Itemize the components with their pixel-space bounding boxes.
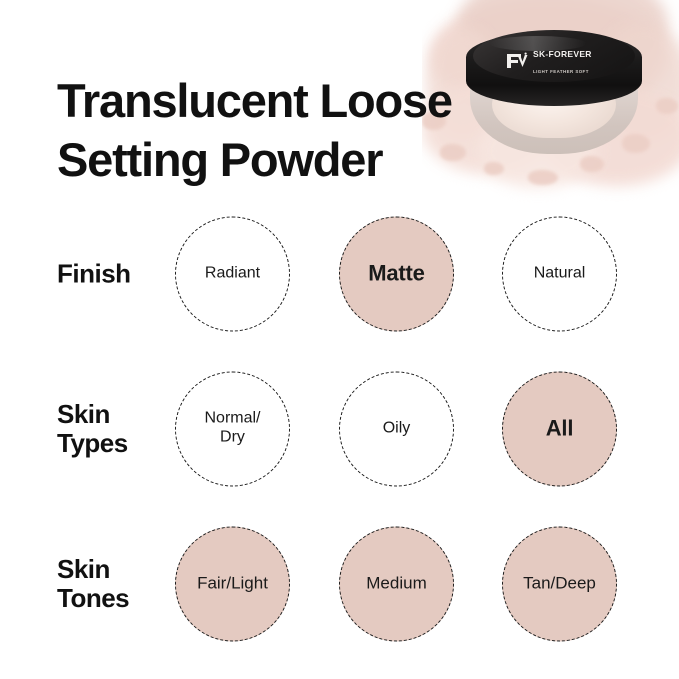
option-tan-deep[interactable]: Tan/Deep — [502, 526, 617, 641]
option-label: Radiant — [200, 264, 265, 283]
option-normal-dry[interactable]: Normal/ Dry — [175, 371, 290, 486]
option-all[interactable]: All — [502, 371, 617, 486]
option-label: Oily — [378, 419, 416, 438]
option-matte[interactable]: Matte — [339, 216, 454, 331]
option-label: Fair/Light — [192, 574, 273, 594]
fv-monogram-icon — [506, 52, 528, 70]
page-title-line-2: Setting Powder — [57, 131, 467, 189]
matrix-row-skin-types: Skin Types Normal/ Dry Oily All — [0, 351, 679, 506]
row-label-skin-tones: Skin Tones — [57, 554, 177, 612]
row-label-skin-types: Skin Types — [57, 399, 177, 457]
brand-name: SK-FOREVER — [533, 49, 592, 59]
attribute-matrix: Finish Radiant Matte Natural Skin Types … — [0, 196, 679, 661]
matrix-row-skin-tones: Skin Tones Fair/Light Medium Tan/Deep — [0, 506, 679, 661]
option-radiant[interactable]: Radiant — [175, 216, 290, 331]
option-medium[interactable]: Medium — [339, 526, 454, 641]
page-title-line-1: Translucent Loose — [57, 72, 467, 130]
loose-powder-jar-icon: SK-FOREVER LIGHT FEATHER SOFT — [466, 32, 642, 164]
matrix-row-finish: Finish Radiant Matte Natural — [0, 196, 679, 351]
option-label: All — [541, 416, 579, 442]
option-label: Natural — [529, 264, 591, 283]
jar-brand-label: SK-FOREVER LIGHT FEATHER SOFT — [506, 48, 614, 74]
option-label: Matte — [363, 261, 429, 287]
page-title: Translucent Loose Setting Powder — [57, 72, 467, 189]
option-oily[interactable]: Oily — [339, 371, 454, 486]
powder-crumb — [528, 170, 558, 185]
option-fair-light[interactable]: Fair/Light — [175, 526, 290, 641]
option-label: Medium — [361, 574, 431, 594]
option-natural[interactable]: Natural — [502, 216, 617, 331]
powder-crumb — [656, 98, 678, 114]
option-label: Tan/Deep — [518, 574, 601, 594]
row-label-finish: Finish — [57, 259, 177, 288]
option-label: Normal/ Dry — [199, 410, 265, 447]
brand-text-block: SK-FOREVER LIGHT FEATHER SOFT — [533, 45, 614, 77]
product-infographic: SK-FOREVER LIGHT FEATHER SOFT Translucen… — [0, 0, 679, 679]
brand-tagline: LIGHT FEATHER SOFT — [533, 69, 589, 74]
